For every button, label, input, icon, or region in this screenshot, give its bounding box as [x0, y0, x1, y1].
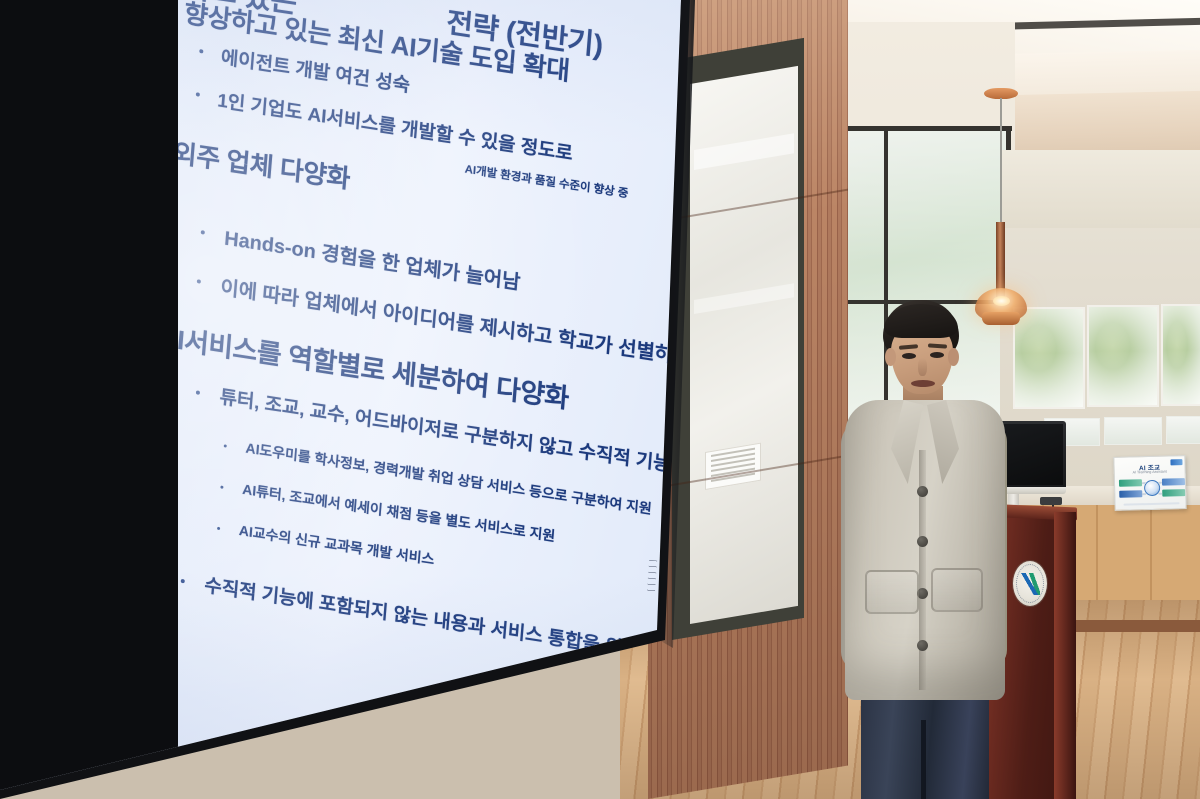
presenter-leg-separation — [921, 720, 926, 799]
baseboard — [1070, 620, 1200, 632]
window-pane — [1013, 307, 1085, 409]
lamp-stem — [996, 222, 1005, 298]
sign-connector — [1142, 482, 1146, 484]
slide-bullet — [199, 49, 203, 54]
window-pane — [1087, 305, 1159, 407]
presenter — [835, 300, 1015, 799]
sign-footer-rule — [1124, 502, 1180, 505]
slide-bullet — [181, 579, 185, 584]
presenter-ear — [885, 348, 896, 366]
slide-bullet — [224, 444, 227, 447]
sign-node — [1162, 478, 1185, 486]
sign-subtitle: AI Teaching Assistant — [1115, 469, 1185, 475]
sign-node — [1119, 479, 1142, 487]
photo-scene: AI 조교 AI Teaching Assistant — [0, 0, 1200, 799]
sign-node — [1162, 489, 1185, 497]
slide-line: 외주 업체 다양화 — [172, 133, 352, 196]
window-lower-pane — [1104, 417, 1162, 445]
ai-assistant-sign: AI 조교 AI Teaching Assistant — [1113, 455, 1186, 511]
slide-bullet — [201, 230, 205, 235]
podium-side-edge — [1054, 512, 1076, 799]
desk-device — [1040, 497, 1062, 505]
presenter-nose — [918, 358, 927, 376]
screen-left-dark-edge — [0, 0, 178, 799]
jacket-button — [917, 640, 928, 651]
sign-connector — [1142, 493, 1146, 495]
jacket-button — [917, 536, 928, 547]
emblem-wave-mark — [1020, 573, 1040, 595]
slide-bullet — [196, 92, 200, 97]
presenter-eye — [930, 352, 944, 358]
window-upper-shade — [1000, 150, 1200, 228]
sign-node — [1119, 490, 1142, 498]
sign-connector — [1158, 482, 1162, 484]
slide-bullet — [220, 485, 223, 488]
presenter-jacket-pocket — [931, 568, 983, 612]
slide-bullet — [217, 527, 220, 530]
slide-line: AI개발 환경과 품질 수준이 향상 중 — [464, 161, 629, 201]
presenter-mouth — [911, 380, 935, 387]
slide-bullet — [196, 390, 200, 395]
window-pane — [1161, 304, 1200, 406]
slide-line: AI교수의 신규 교과목 개발 서비스 — [238, 520, 435, 569]
presenter-eye — [902, 353, 916, 359]
presenter-jacket-pocket — [865, 570, 919, 614]
presenter-ear — [948, 348, 959, 366]
window-lower-pane — [1166, 416, 1200, 444]
slide-bullet — [197, 279, 201, 284]
jacket-button — [917, 486, 928, 497]
sign-connector — [1158, 493, 1162, 495]
university-emblem — [1013, 561, 1047, 606]
